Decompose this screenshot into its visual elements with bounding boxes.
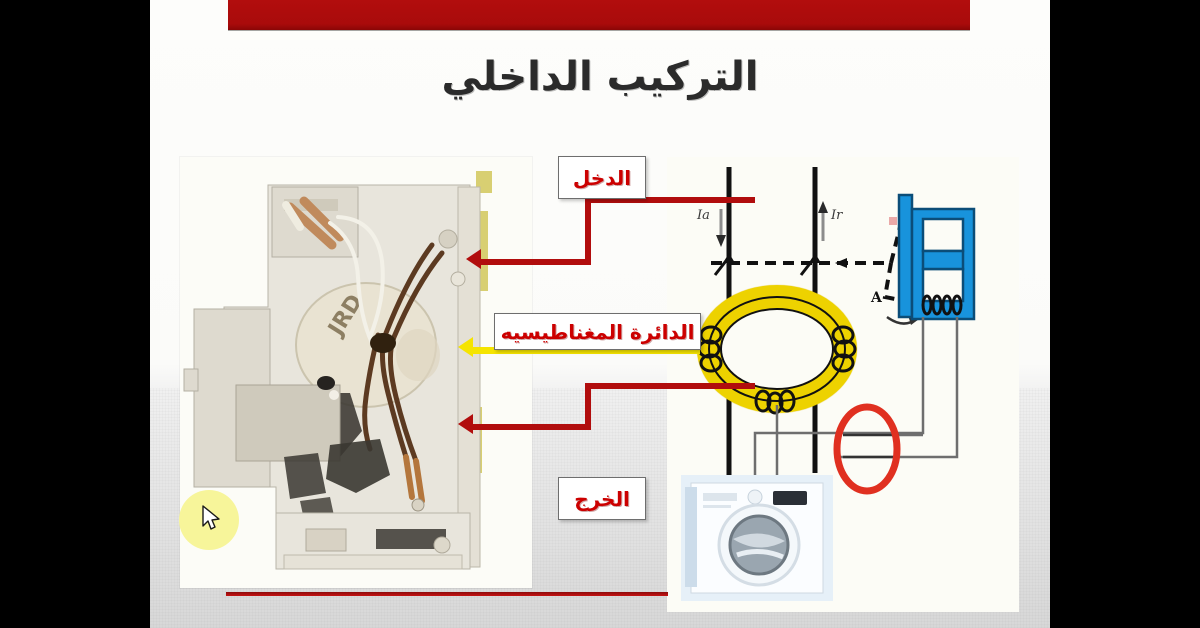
label-magnetic-circuit-text: الدائرة المغناطيسيه: [501, 320, 695, 344]
top-red-banner: [228, 0, 970, 30]
svg-text:A: A: [870, 290, 883, 306]
letterbox-left: [0, 0, 150, 628]
label-input[interactable]: الدخل: [558, 156, 646, 199]
label-input-text: الدخل: [573, 166, 631, 190]
label-output[interactable]: الخرج: [558, 477, 646, 520]
letterbox-right: [1050, 0, 1200, 628]
svg-text:Ir: Ir: [830, 208, 843, 223]
bottom-red-rule: [226, 592, 668, 596]
page-title: التركيب الداخلي: [150, 54, 1050, 100]
slide-canvas: التركيب الداخلي: [150, 0, 1050, 628]
washing-machine-illustration: [681, 475, 833, 601]
mouse-cursor-icon: [202, 505, 222, 533]
label-output-text: الخرج: [574, 487, 630, 511]
label-magnetic-circuit[interactable]: الدائرة المغناطيسيه: [494, 313, 701, 350]
screenshot-canvas: التركيب الداخلي: [0, 0, 1200, 628]
svg-text:Ia: Ia: [696, 208, 710, 223]
